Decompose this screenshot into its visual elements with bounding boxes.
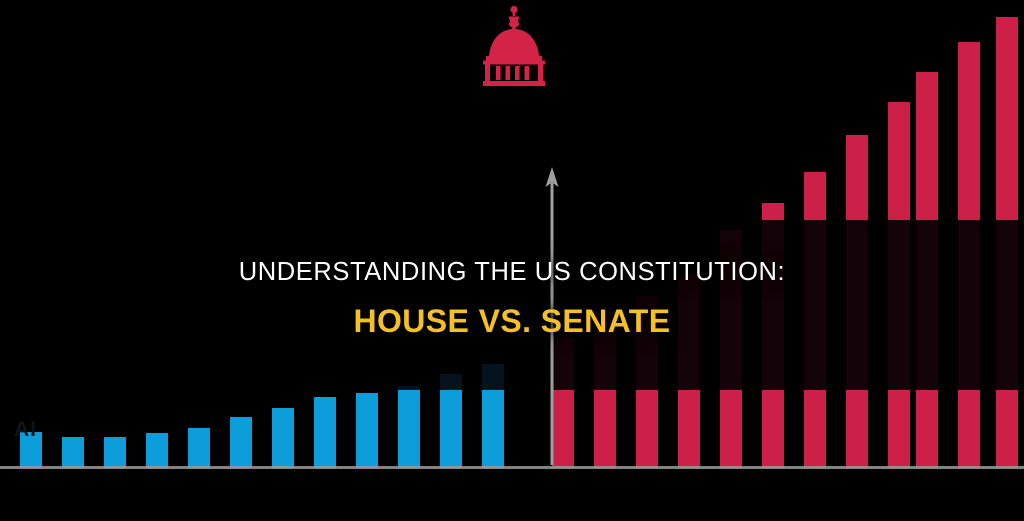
bar-house-9 [356,393,378,468]
bar-house-3 [104,437,126,468]
chart-screenshot: AI UNDERSTANDING THE US CONSTITUTION: HO… [0,0,1024,521]
bar-fill [636,296,658,468]
bar-fill [958,42,980,468]
bar-fill [996,17,1018,468]
bar-fill [62,437,84,468]
bar-senate-4 [678,274,700,468]
bar-fill [804,172,826,468]
bar-senate-8 [846,135,868,468]
bar-fill [482,364,504,468]
bar-fill [104,437,126,468]
watermark-text: AI [14,418,37,442]
bar-house-12 [482,364,504,468]
bar-fill [762,203,784,468]
bar-fill [916,72,938,468]
bar-house-6 [230,417,252,468]
bar-fill [888,102,910,468]
bar-senate-3 [636,296,658,468]
bar-senate-6 [762,203,784,468]
bar-fill [594,310,616,468]
bar-fill [356,393,378,468]
bar-fill [678,274,700,468]
bar-fill [230,417,252,468]
bar-fill [398,386,420,468]
bar-house-2 [62,437,84,468]
bar-house-10 [398,386,420,468]
bar-fill [720,230,742,468]
bar-senate-11 [958,42,980,468]
chart-baseline [0,466,1024,469]
bar-senate-5 [720,230,742,468]
bar-house-7 [272,408,294,468]
bar-fill [846,135,868,468]
bar-senate-10 [916,72,938,468]
bar-senate-12 [996,17,1018,468]
bar-senate-9 [888,102,910,468]
up-arrow-icon [540,165,564,470]
bar-fill [272,408,294,468]
bar-house-5 [188,428,210,468]
bar-senate-7 [804,172,826,468]
bar-fill [314,397,336,468]
bar-house-11 [440,374,462,468]
bar-house-8 [314,397,336,468]
bar-fill [440,374,462,468]
bar-fill [146,433,168,468]
bar-fill [188,428,210,468]
capitol-dome-icon [478,4,550,88]
bar-senate-2 [594,310,616,468]
bar-house-4 [146,433,168,468]
